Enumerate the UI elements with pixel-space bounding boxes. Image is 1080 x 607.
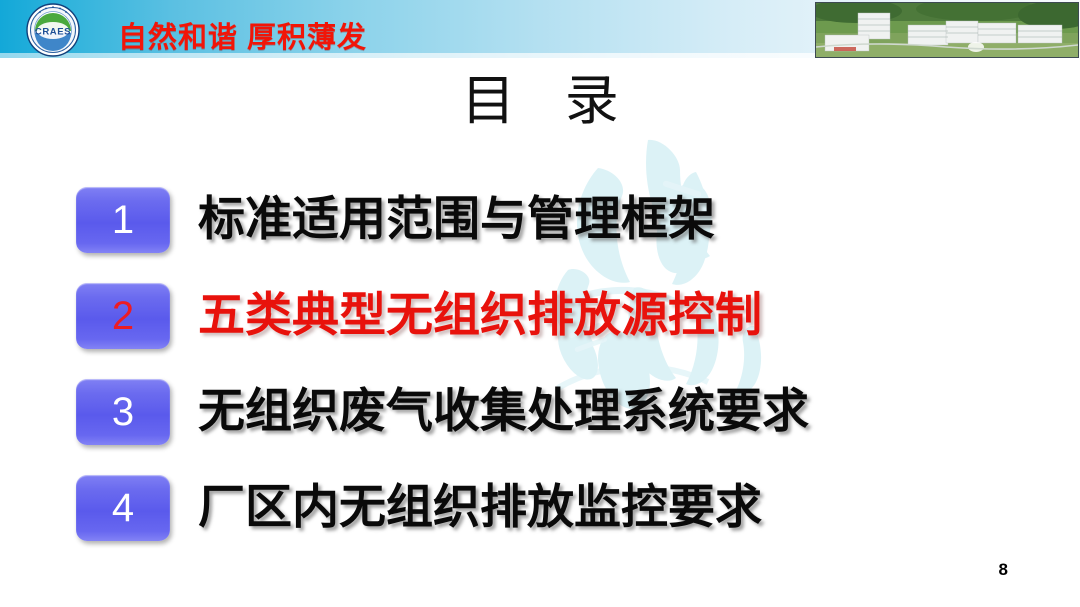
toc-number: 3 bbox=[112, 392, 134, 432]
page-number: 8 bbox=[999, 560, 1008, 580]
header-slogan: 自然和谐 厚积薄发 bbox=[118, 14, 367, 56]
svg-text:CRAES: CRAES bbox=[35, 27, 71, 38]
craes-circular-logo: CRAES bbox=[26, 3, 80, 57]
toc-number: 1 bbox=[112, 200, 134, 240]
toc-item-4[interactable]: 4 厂区内无组织排放监控要求 bbox=[0, 473, 1080, 569]
presentation-slide: CRAES 自然和谐 厚积薄发 bbox=[0, 0, 1080, 607]
toc-item-2[interactable]: 2 五类典型无组织排放源控制 bbox=[0, 281, 1080, 377]
toc-number-box: 3 bbox=[76, 379, 170, 445]
toc-number: 2 bbox=[112, 296, 134, 336]
toc-label: 五类典型无组织排放源控制 bbox=[198, 279, 762, 351]
toc-label: 厂区内无组织排放监控要求 bbox=[198, 471, 762, 543]
table-of-contents: 1 标准适用范围与管理框架 2 五类典型无组织排放源控制 3 无组织废气收集处理… bbox=[0, 185, 1080, 569]
campus-aerial-photo bbox=[815, 2, 1079, 58]
toc-number-box: 4 bbox=[76, 475, 170, 541]
toc-label: 标准适用范围与管理框架 bbox=[198, 183, 715, 255]
toc-item-3[interactable]: 3 无组织废气收集处理系统要求 bbox=[0, 377, 1080, 473]
toc-item-1[interactable]: 1 标准适用范围与管理框架 bbox=[0, 185, 1080, 281]
toc-label: 无组织废气收集处理系统要求 bbox=[198, 375, 809, 447]
toc-number: 4 bbox=[112, 488, 134, 528]
toc-number-box: 1 bbox=[76, 187, 170, 253]
page-title: 目 录 bbox=[0, 72, 1080, 131]
toc-number-box: 2 bbox=[76, 283, 170, 349]
